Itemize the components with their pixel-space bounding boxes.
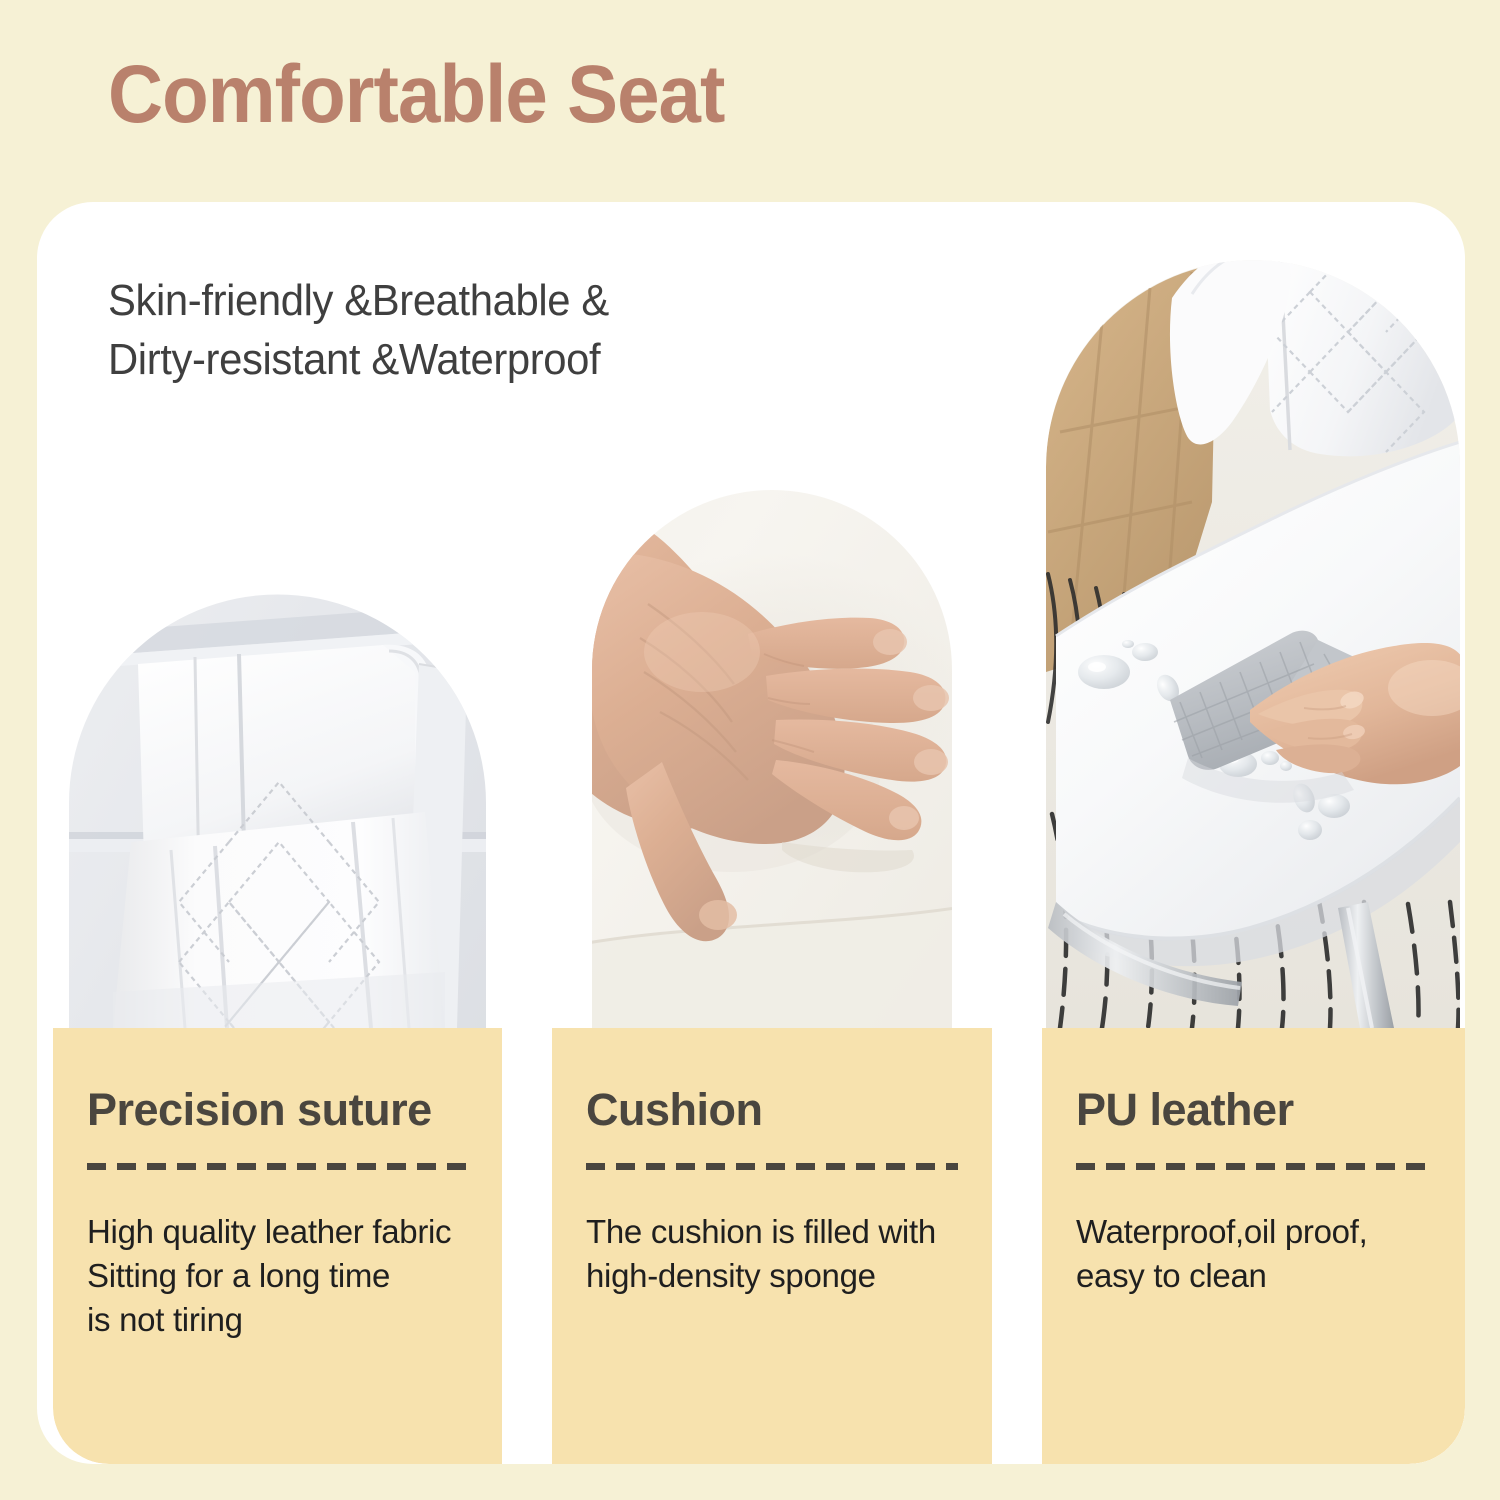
photo-hand-pressing-cushion <box>552 202 992 1028</box>
caption-title: Precision suture <box>87 1086 468 1133</box>
caption-body: High quality leather fabric Sitting for … <box>87 1210 468 1342</box>
caption-body: Waterproof,oil proof, easy to clean <box>1076 1210 1431 1298</box>
feature-card-pu-leather[interactable]: PU leather Waterproof,oil proof, easy to… <box>1042 202 1465 1464</box>
content-panel: Skin-friendly &Breathable & Dirty-resist… <box>37 202 1465 1464</box>
caption-cushion: Cushion The cushion is filled with high-… <box>552 1028 992 1464</box>
feature-card-row: Precision suture High quality leather fa… <box>53 202 1465 1464</box>
dashed-divider <box>87 1163 468 1170</box>
caption-title: Cushion <box>586 1086 958 1133</box>
caption-pu-leather: PU leather Waterproof,oil proof, easy to… <box>1042 1028 1465 1464</box>
caption-precision-suture: Precision suture High quality leather fa… <box>53 1028 502 1464</box>
dashed-divider <box>1076 1163 1431 1170</box>
caption-body: The cushion is filled with high-density … <box>586 1210 958 1298</box>
caption-title: PU leather <box>1076 1086 1431 1133</box>
photo-wiping-water-droplets <box>1042 202 1465 1028</box>
dashed-divider <box>586 1163 958 1170</box>
photo-quilted-chair-back <box>53 202 502 1028</box>
feature-card-precision-suture[interactable]: Precision suture High quality leather fa… <box>53 202 502 1464</box>
feature-card-cushion[interactable]: Cushion The cushion is filled with high-… <box>552 202 992 1464</box>
page-title: Comfortable Seat <box>108 54 725 136</box>
